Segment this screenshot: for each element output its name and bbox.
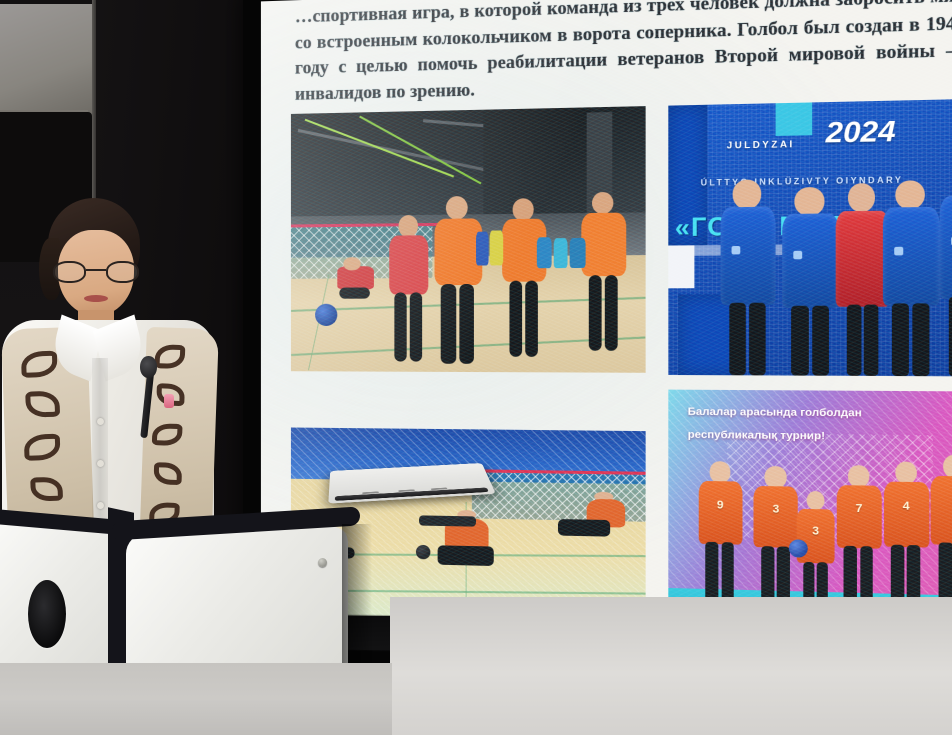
jersey-number: 7 [836,502,883,516]
goalball-spectators [476,228,504,270]
goalball-player-orange-3 [580,192,627,352]
jersey-number: 4 [883,500,930,514]
wall-panel-upper-left [0,4,96,116]
banner-title-line-1: Балалар арасында голболдан [688,404,952,422]
goalball-player-orange-2 [501,198,548,356]
ribbon-badge [164,394,174,408]
blue-team-member-3 [883,180,941,376]
microphone-icon [140,356,157,378]
banner-year: 2024 [826,114,896,149]
slide-photo-top-left [291,106,646,373]
blue-team-member-1 [720,179,776,375]
seated-player-3 [558,491,631,545]
goalball-ball-2 [416,545,430,560]
floor-below-screen [390,597,952,735]
goalball-player-crouching [332,257,381,299]
slide-body-text: …спортивная игра, в которой команда из т… [295,0,952,107]
blue-team-member-2 [783,187,839,376]
screw-icon [318,558,327,567]
floor-left-lower [0,700,392,735]
blue-team-member-4 [940,168,952,377]
jersey-number: 3 [796,524,836,538]
orange-team-member-1: 9 [697,461,743,618]
jersey-number: 3 [753,503,799,516]
goalball-player-orange-1 [433,196,483,364]
goalball-player-red [388,215,430,361]
presentation-photo-scene: …спортивная игра, в которой команда из т… [0,0,952,735]
slide-photo-top-right: JULDYZAI 2024 ÚLTTYQ INKLÜZIVTY OIYNDARY… [668,98,952,376]
jersey-number: 5 [930,495,952,509]
banner-brand: JULDYZAI [727,138,795,150]
speaker-grille-icon [28,580,66,648]
jersey-number: 9 [697,498,743,511]
glasses-icon [53,261,139,283]
presenter-lips [84,295,108,302]
blouse-button [97,418,104,425]
blouse-button [97,460,104,467]
coach-red [836,183,890,376]
